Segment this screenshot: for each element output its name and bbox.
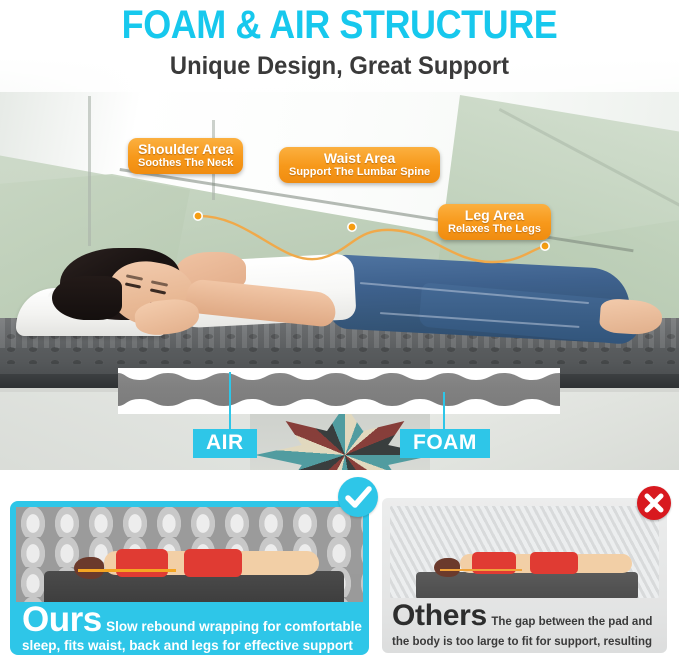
cross-section-wave-edges	[118, 368, 560, 414]
check-icon	[338, 477, 378, 517]
air-leader-line	[229, 372, 231, 432]
others-head	[434, 558, 460, 577]
label-foam: FOAM	[400, 429, 490, 458]
others-swimsuit-bottom	[530, 552, 578, 574]
model-hair-front	[52, 276, 122, 320]
product-infographic: FOAM & AIR STRUCTURE Unique Design, Grea…	[0, 0, 679, 659]
callout-waist-title: Waist Area	[289, 150, 430, 166]
callout-waist-subtitle: Support The Lumbar Spine	[289, 166, 430, 179]
others-illustration	[390, 506, 659, 598]
callout-shoulder-subtitle: Soothes The Neck	[138, 157, 233, 170]
ours-swimsuit-top	[116, 549, 168, 577]
page-title: FOAM & AIR STRUCTURE	[34, 3, 645, 48]
callout-shoulder-title: Shoulder Area	[138, 141, 233, 157]
callout-shoulder-area[interactable]: Shoulder Area Soothes The Neck	[128, 138, 243, 174]
mattress-cross-section	[118, 368, 560, 414]
comparison-panel-ours: Ours Slow rebound wrapping for comfortab…	[12, 503, 367, 653]
callout-leg-area[interactable]: Leg Area Relaxes The Legs	[438, 204, 551, 240]
ours-illustration	[16, 507, 363, 602]
label-air: AIR	[193, 429, 257, 458]
callout-leg-subtitle: Relaxes The Legs	[448, 223, 541, 236]
ours-head	[74, 557, 104, 579]
others-spine-line	[440, 569, 522, 571]
others-label: Others	[392, 599, 487, 632]
page-subtitle: Unique Design, Great Support	[17, 52, 662, 81]
others-caption: Others The gap between the pad and the b…	[392, 600, 660, 653]
ours-label: Ours	[22, 600, 102, 639]
callout-waist-area[interactable]: Waist Area Support The Lumbar Spine	[279, 147, 440, 183]
callout-leg-title: Leg Area	[448, 207, 541, 223]
tent-pole-left	[88, 96, 91, 246]
ours-swimsuit-bottom	[184, 549, 242, 577]
ours-caption: Ours Slow rebound wrapping for comfortab…	[22, 603, 362, 653]
ours-spine-line	[78, 569, 176, 572]
comparison-panel-others: Others The gap between the pad and the b…	[382, 498, 667, 653]
x-icon	[637, 486, 671, 520]
header: FOAM & AIR STRUCTURE Unique Design, Grea…	[0, 0, 679, 92]
foam-leader-line	[443, 392, 445, 432]
